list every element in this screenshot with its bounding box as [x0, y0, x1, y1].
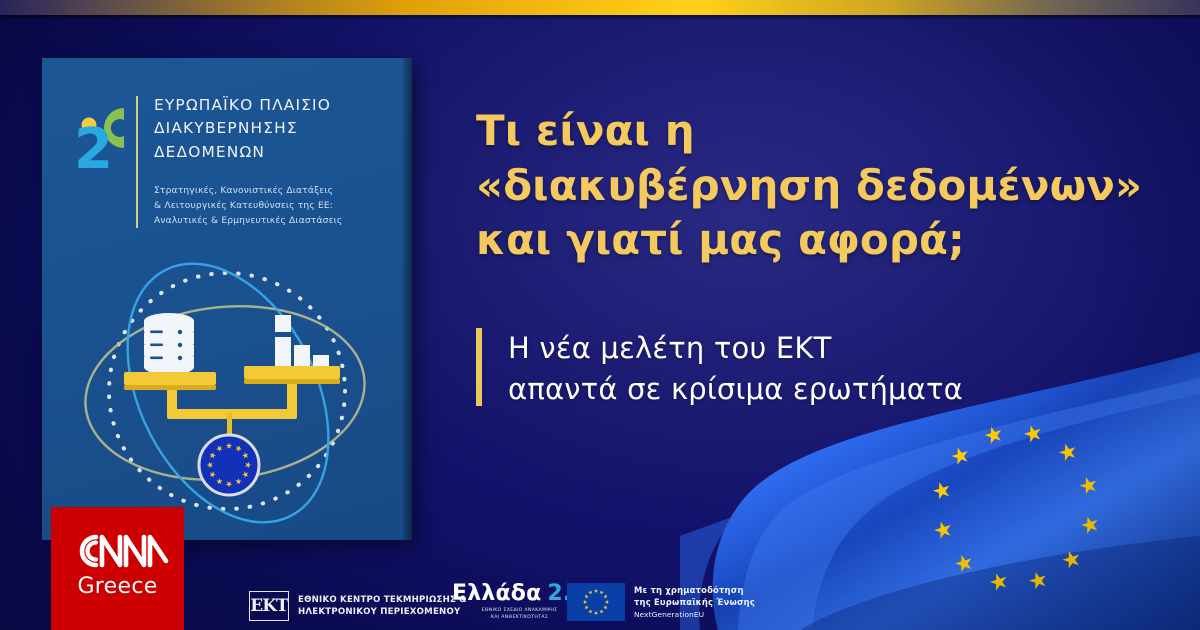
headline-line-3: και γιατί μας αφορά; [476, 213, 1156, 268]
eu-flag-icon [567, 583, 625, 621]
eu-funding-line-3: NextGenerationEU [634, 609, 755, 620]
ekt-mark-icon: ΕΚΤ [249, 591, 289, 621]
headline-line-2: «διακυβέρνηση δεδομένων» [476, 159, 1156, 214]
eu-funding-line-2: της Ευρωπαϊκής Ένωσης [634, 596, 755, 608]
subtitle: Η νέα μελέτη του ΕΚΤ απαντά σε κρίσιμα ε… [508, 328, 1148, 410]
subtitle-accent-bar [476, 328, 482, 406]
cover-subtitle-line-3: Αναλυτικές & Ερμηνευτικές Διαστάσεις [154, 214, 390, 229]
cover-subtitle-line-1: Στρατηγικές, Κανονιστικές Διατάξεις [154, 184, 390, 199]
ekt-text-line-2: ΗΛΕΚΤΡΟΝΙΚΟΥ ΠΕΡΙΕΧΟΜΕΝΟΥ [298, 606, 467, 618]
headline-line-1: Τι είναι η [476, 104, 1156, 159]
cover-header: 2 ΕΥΡΩΠΑΪΚΟ ΠΛΑΙΣΙΟ ΔΙΑΚΥΒΕΡΝΗΣΗΣ ΔΕΔΟΜΕ… [72, 92, 390, 228]
cover-subtitle: Στρατηγικές, Κανονιστικές Διατάξεις & Λε… [154, 184, 390, 228]
cnn-greece-logo[interactable]: Greece [51, 507, 184, 630]
cnn-edition-label: Greece [77, 574, 157, 599]
cnn-wordmark-icon [66, 531, 170, 571]
ekt-logo: ΕΚΤ ΕΘΝΙΚΟ ΚΕΝΤΡΟ ΤΕΚΜΗΡΙΩΣΗΣ & ΗΛΕΚΤΡΟΝ… [249, 591, 467, 621]
top-bar-shadow [0, 15, 1200, 20]
cover-title-line-1: ΕΥΡΩΠΑΪΚΟ ΠΛΑΙΣΙΟ [154, 94, 390, 117]
ekt-logo-text: ΕΘΝΙΚΟ ΚΕΝΤΡΟ ΤΕΚΜΗΡΙΩΣΗΣ & ΗΛΕΚΤΡΟΝΙΚΟΥ… [298, 594, 467, 618]
eu-funding-text: Με τη χρηματοδότηση της Ευρωπαϊκής Ένωση… [634, 584, 755, 620]
cover-title-line-2: ΔΙΑΚΥΒΕΡΝΗΣΗΣ [154, 117, 390, 140]
cover-divider [136, 96, 138, 228]
ellada-word-text: Ελλάδα [452, 581, 541, 606]
gold-top-bar [0, 0, 1200, 15]
headline: Τι είναι η «διακυβέρνηση δεδομένων» και … [476, 104, 1156, 268]
cover-title-line-3: ΔΕΔΟΜΕΝΩΝ [154, 141, 390, 164]
balance-scale-icon [124, 366, 340, 439]
cover-subtitle-line-2: & Λειτουργικές Κατευθύνσεις της ΕΕ: [154, 199, 390, 214]
subtitle-line-1: Η νέα μελέτη του ΕΚΤ [508, 328, 1148, 369]
promo-graphic: 2 ΕΥΡΩΠΑΪΚΟ ΠΛΑΙΣΙΟ ΔΙΑΚΥΒΕΡΝΗΣΗΣ ΔΕΔΟΜΕ… [0, 0, 1200, 630]
eu-funding-line-1: Με τη χρηματοδότηση [634, 584, 755, 596]
subtitle-line-2: απαντά σε κρίσιμα ερωτήματα [508, 369, 1148, 410]
eu-funding-logo: Με τη χρηματοδότηση της Ευρωπαϊκής Ένωση… [567, 583, 755, 621]
ekt-text-line-1: ΕΘΝΙΚΟ ΚΕΝΤΡΟ ΤΕΚΜΗΡΙΩΣΗΣ & [298, 594, 467, 606]
cover-title: ΕΥΡΩΠΑΪΚΟ ΠΛΑΙΣΙΟ ΔΙΑΚΥΒΕΡΝΗΣΗΣ ΔΕΔΟΜΕΝΩ… [154, 94, 390, 164]
2c-logo-icon: 2 [72, 92, 130, 172]
cover-artwork [42, 253, 412, 533]
eu-stars-medallion [199, 435, 259, 495]
svg-text:2: 2 [74, 117, 113, 172]
report-cover: 2 ΕΥΡΩΠΑΪΚΟ ΠΛΑΙΣΙΟ ΔΙΑΚΥΒΕΡΝΗΣΗΣ ΔΕΔΟΜΕ… [42, 58, 412, 540]
